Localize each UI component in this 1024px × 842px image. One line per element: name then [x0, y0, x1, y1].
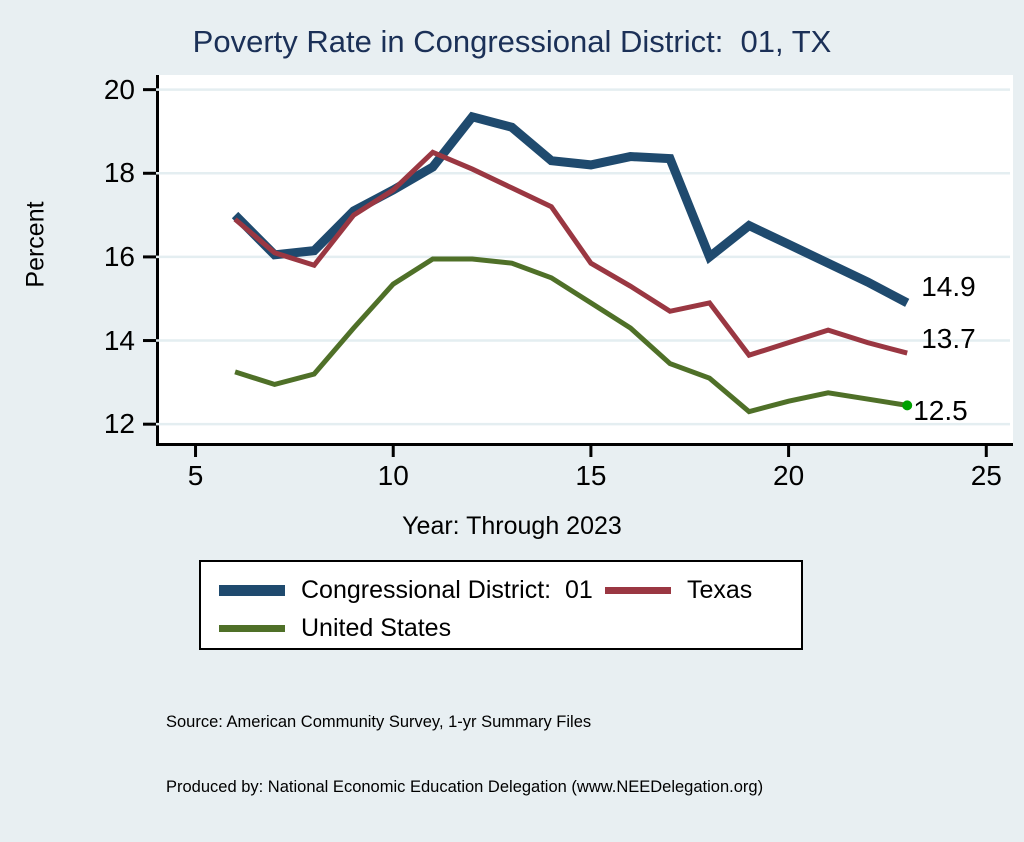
- legend: Congressional District: 01 Texas United …: [199, 560, 803, 650]
- y-tick-label: 14: [65, 327, 135, 355]
- legend-label-us: United States: [301, 614, 451, 643]
- x-tick-label: 5: [156, 462, 236, 490]
- y-tick-label: 16: [65, 243, 135, 271]
- legend-swatch-texas: [605, 587, 671, 594]
- y-tick-label: 18: [65, 159, 135, 187]
- y-tick-label: 12: [65, 410, 135, 438]
- legend-swatch-district: [219, 585, 285, 596]
- x-tick-label: 15: [551, 462, 631, 490]
- legend-item-texas[interactable]: Texas: [605, 576, 752, 605]
- x-axis-title: Year: Through 2023: [0, 512, 1024, 541]
- legend-label-district: Congressional District: 01: [301, 576, 593, 605]
- x-tick-label: 10: [353, 462, 433, 490]
- end-label-district: 14.9: [921, 273, 976, 301]
- footer-source: Source: American Community Survey, 1-yr …: [166, 712, 763, 734]
- legend-label-texas: Texas: [687, 576, 752, 605]
- legend-item-us[interactable]: United States: [219, 614, 451, 643]
- page-title: Poverty Rate in Congressional District: …: [0, 24, 1024, 60]
- x-tick-label: 20: [749, 462, 829, 490]
- end-label-texas: 13.7: [921, 325, 976, 353]
- legend-item-district[interactable]: Congressional District: 01: [219, 576, 593, 605]
- y-tick-label: 20: [65, 76, 135, 104]
- footer-producer: Produced by: National Economic Education…: [166, 777, 763, 799]
- y-axis-title: Percent: [22, 185, 51, 305]
- plot-area: [156, 75, 1013, 446]
- poverty-rate-chart: Poverty Rate in Congressional District: …: [0, 0, 1024, 745]
- legend-swatch-us: [219, 625, 285, 632]
- x-tick-label: 25: [946, 462, 1024, 490]
- end-label-us: 12.5: [913, 397, 968, 425]
- footer: Source: American Community Survey, 1-yr …: [166, 668, 763, 842]
